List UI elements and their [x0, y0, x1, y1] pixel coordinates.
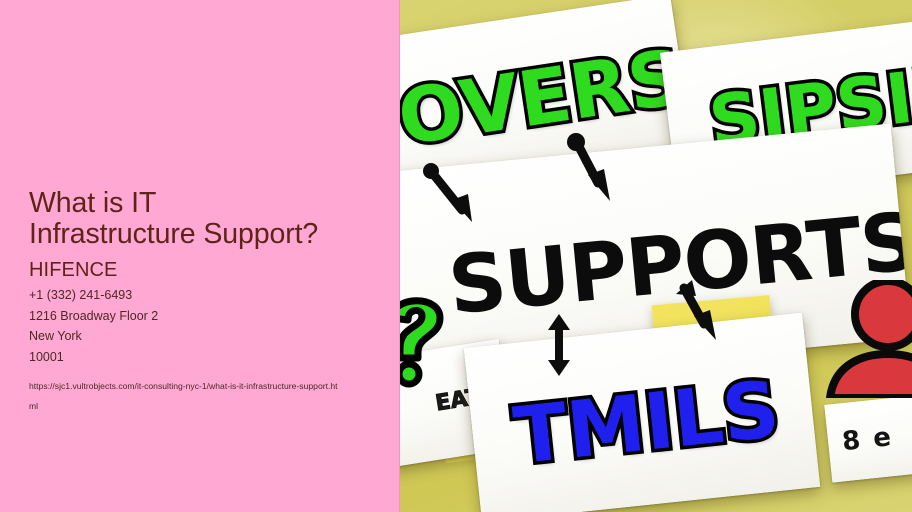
person-avatar-icon: [824, 280, 912, 398]
photo-panel: TOVERS SIPSID SUPPORTS EATB TMILS 8 e: [400, 0, 912, 512]
sign-card-tmils: TMILS: [464, 313, 820, 512]
slide-root: What is IT Infrastructure Support? HIFEN…: [0, 0, 912, 512]
info-panel: What is IT Infrastructure Support? HIFEN…: [0, 0, 400, 512]
brand-name: HIFENCE: [29, 258, 374, 282]
info-content: What is IT Infrastructure Support? HIFEN…: [29, 188, 374, 416]
sign-tovers-text: TOVERS: [400, 38, 688, 163]
address-zip: 10001: [29, 347, 374, 368]
sign-tmils-text: TMILS: [510, 370, 782, 475]
sign-card-eightcode: 8 e: [824, 391, 912, 482]
source-url-link[interactable]: https://sjc1.vultrobjects.com/it-consult…: [29, 376, 339, 416]
address-city: New York: [29, 326, 374, 347]
page-title: What is IT Infrastructure Support?: [29, 188, 374, 250]
phone-number[interactable]: +1 (332) 241-6493: [29, 285, 374, 306]
address-street: 1216 Broadway Floor 2: [29, 306, 374, 327]
question-mark-icon: [400, 288, 456, 388]
sign-eightcode-text: 8 e: [827, 424, 894, 457]
panel-divider: [399, 0, 400, 512]
